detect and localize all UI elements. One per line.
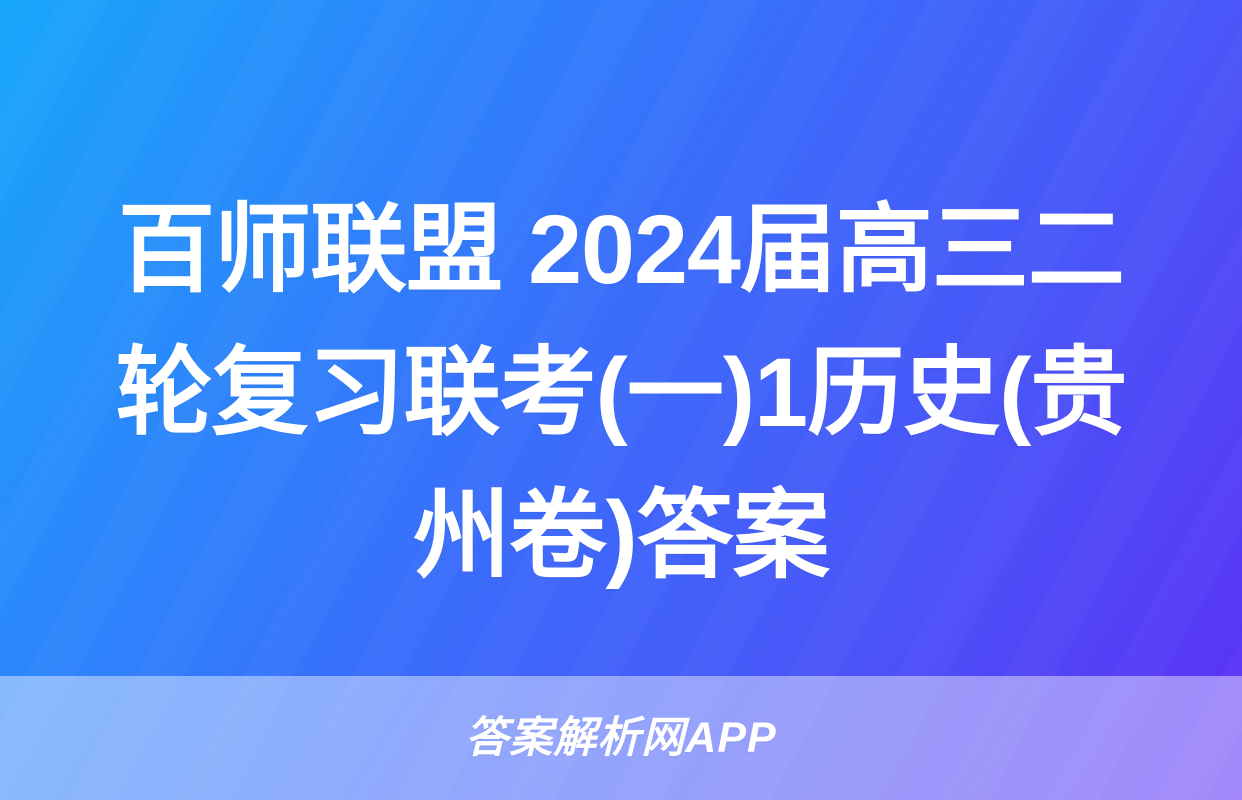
title-line-2: 轮复习联考(一)1历史(贵 xyxy=(70,321,1172,464)
poster-canvas: 百师联盟 2024届高三二 轮复习联考(一)1历史(贵 州卷)答案 答案解析网A… xyxy=(0,0,1242,800)
watermark-band: 答案解析网APP xyxy=(0,676,1242,800)
poster-title: 百师联盟 2024届高三二 轮复习联考(一)1历史(贵 州卷)答案 xyxy=(0,178,1242,607)
title-line-1: 百师联盟 2024届高三二 xyxy=(70,178,1172,321)
watermark-app-label: 答案解析网APP xyxy=(465,717,776,760)
title-line-3: 州卷)答案 xyxy=(70,464,1172,607)
